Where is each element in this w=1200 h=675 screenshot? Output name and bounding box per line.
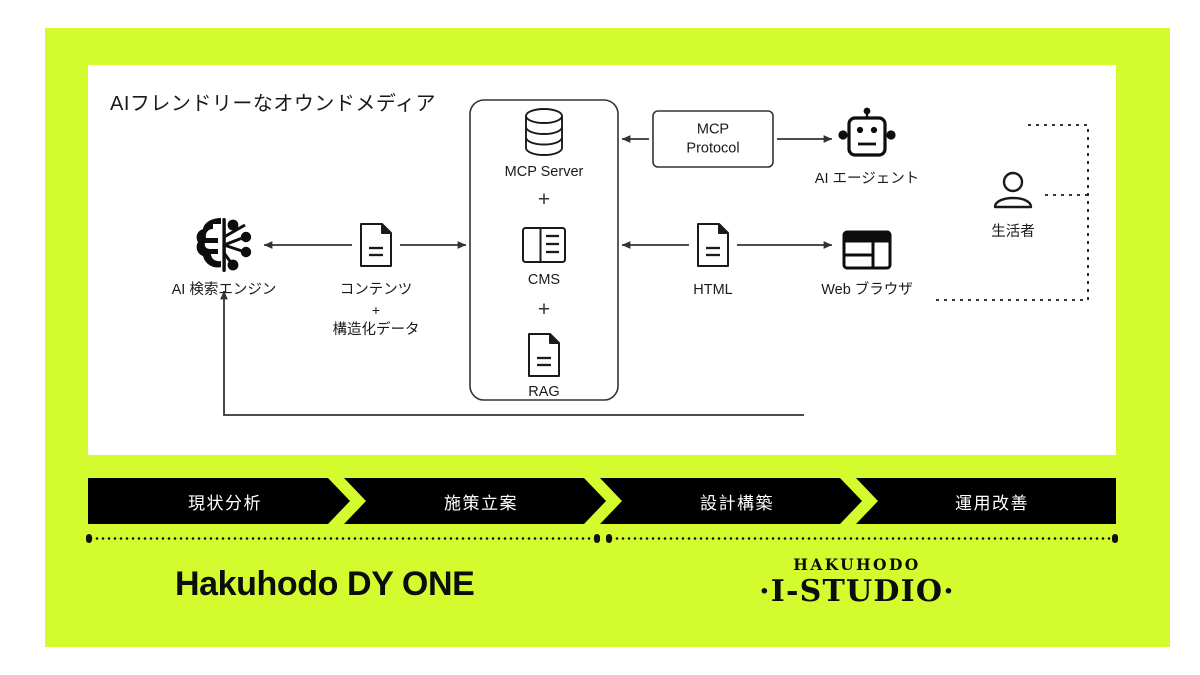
logo-hakuhodo-i-studio: HAKUHODO ·I-STUDIO· xyxy=(752,556,962,610)
dot-cap xyxy=(86,534,92,543)
label-ai-agent: AI エージェント xyxy=(815,170,919,190)
logo-hakuhodo-dy-one: Hakuhodo DY ONE xyxy=(175,565,474,604)
label-mcp-protocol-line2: Protocol xyxy=(686,140,739,159)
process-step-bar: 現状分析 施策立案 設計構築 運用改善 xyxy=(88,478,1116,524)
ai-brain-icon xyxy=(197,218,252,272)
diagram-graphics xyxy=(88,65,1116,455)
label-mcp-protocol-line1: MCP xyxy=(697,121,729,140)
step-label: 施策立案 xyxy=(444,489,518,514)
database-icon xyxy=(526,109,562,155)
dot-cap xyxy=(606,534,612,543)
dot-cap xyxy=(594,534,600,543)
browser-window-icon xyxy=(844,232,890,268)
plus-separator-1: + xyxy=(538,189,550,210)
diagram-card: AIフレンドリーなオウンドメディア xyxy=(88,65,1116,455)
plus-separator-2: + xyxy=(538,299,550,320)
label-mcp-server: MCP Server xyxy=(505,163,584,183)
step-item-3[interactable]: 設計構築 xyxy=(600,478,862,524)
label-consumer: 生活者 xyxy=(991,223,1035,243)
label-html: HTML xyxy=(693,281,732,301)
logo-istudio-top-text: HAKUHODO xyxy=(752,556,962,573)
label-web-browser: Web ブラウザ xyxy=(821,281,913,301)
step-item-1[interactable]: 現状分析 xyxy=(88,478,350,524)
label-cms: CMS xyxy=(528,271,560,291)
step-label: 現状分析 xyxy=(188,489,262,514)
dotted-rule-right xyxy=(608,537,1116,540)
document-icon xyxy=(698,224,728,266)
step-item-2[interactable]: 施策立案 xyxy=(344,478,606,524)
dot-cap xyxy=(1112,534,1118,543)
robot-icon xyxy=(838,108,895,155)
cms-layout-icon xyxy=(523,228,565,262)
step-item-4[interactable]: 運用改善 xyxy=(856,478,1116,524)
document-icon xyxy=(361,224,391,266)
person-icon xyxy=(995,173,1031,207)
label-rag: RAG xyxy=(528,383,559,403)
label-ai-search-engine: AI 検索エンジン xyxy=(172,281,277,301)
slide-canvas: AIフレンドリーなオウンドメディア xyxy=(0,0,1200,675)
step-label: 運用改善 xyxy=(955,489,1029,514)
document-icon xyxy=(529,334,559,376)
step-label: 設計構築 xyxy=(700,489,774,514)
logo-istudio-main-text: ·I-STUDIO· xyxy=(752,575,962,610)
label-content-plus: + xyxy=(372,301,380,320)
dotted-agent-browser-consumer-path xyxy=(933,125,1088,300)
label-structured-data: 構造化データ xyxy=(333,321,420,341)
label-content: コンテンツ xyxy=(340,281,413,301)
dotted-rule-left xyxy=(88,537,598,540)
arrow-feedback-loop xyxy=(224,291,804,415)
